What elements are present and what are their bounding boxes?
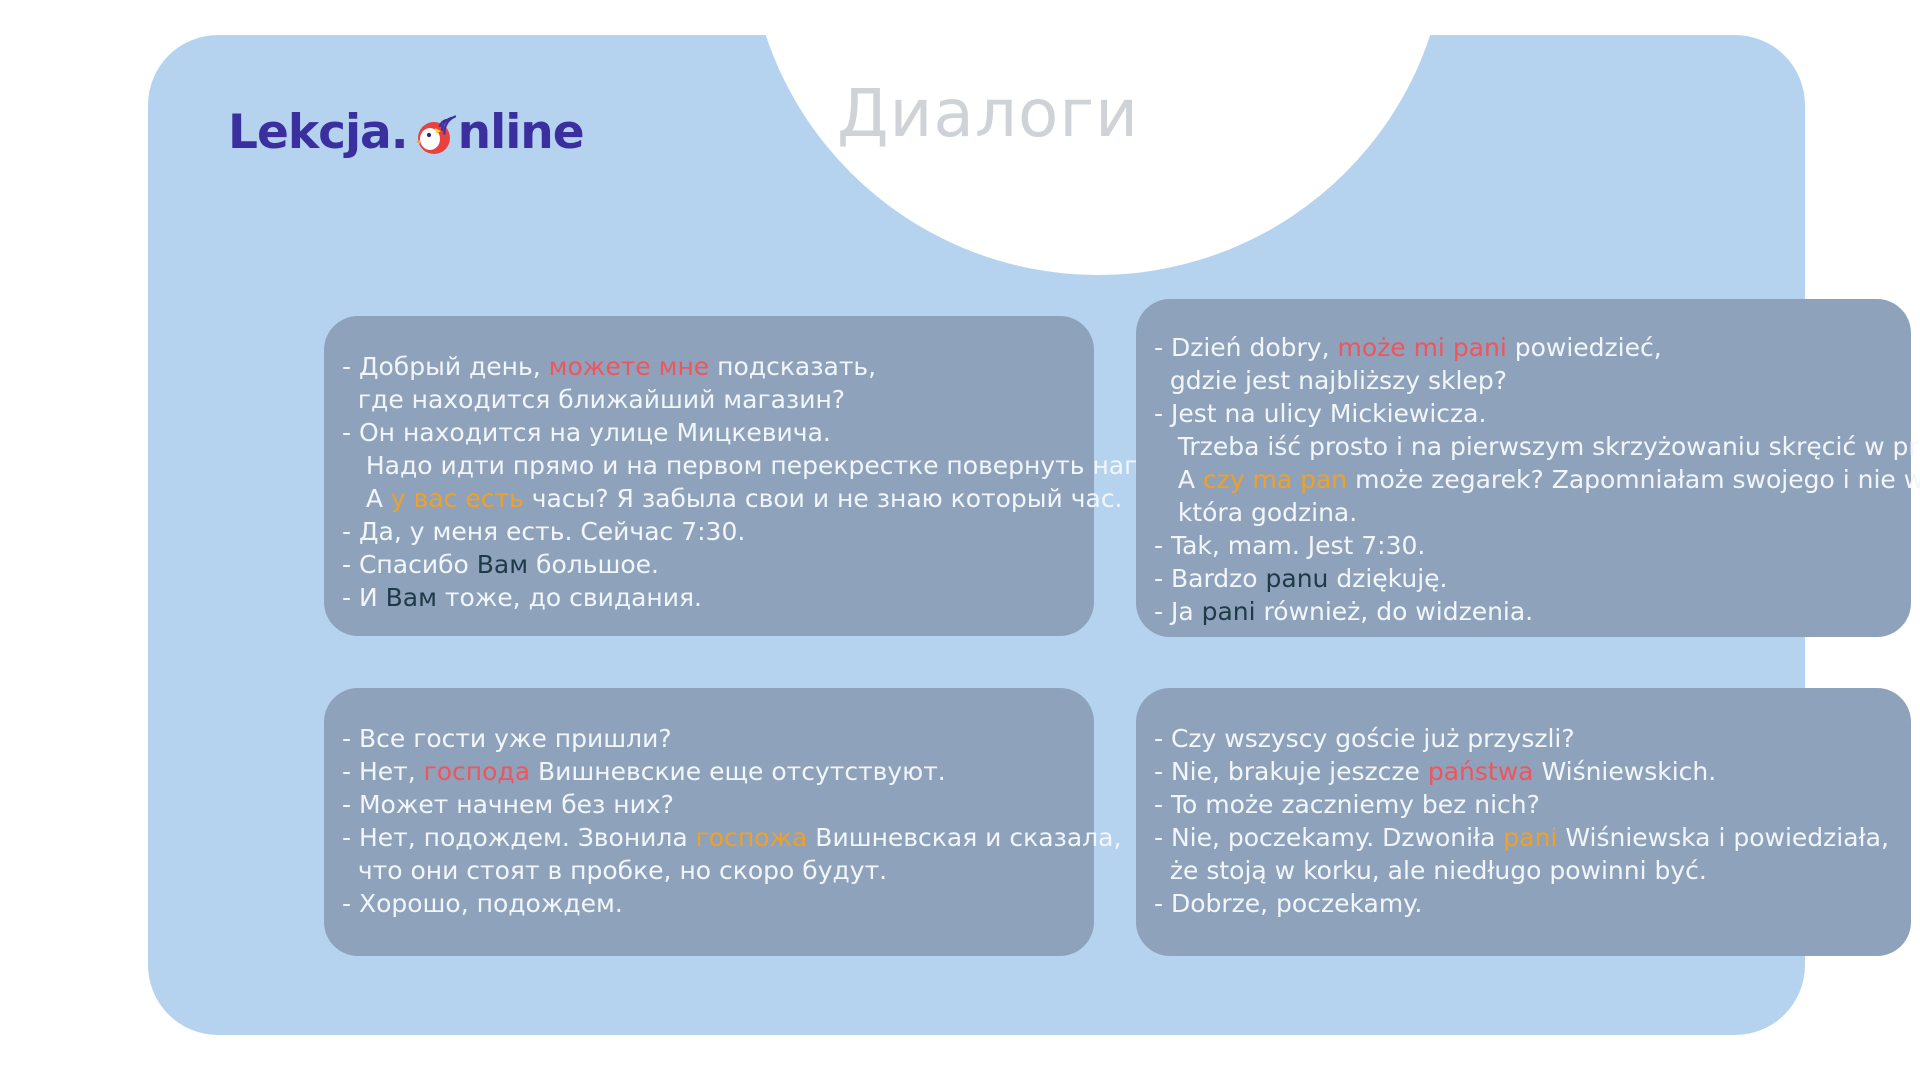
dialog-line: Надо идти прямо и на первом перекрестке … xyxy=(342,449,1094,482)
dialog-text-pl-1: - Dzień dobry, może mi pani powiedzieć, … xyxy=(1136,299,1911,628)
dialog-text-run: большое. xyxy=(528,550,659,579)
dialog-text-run: - Dobrze, poczekamy. xyxy=(1154,889,1422,918)
dialog-text-run: może zegarek? Zapomniałam swojego i nie … xyxy=(1347,465,1920,494)
dialog-text-run: - Jest na ulicy Mickiewicza. xyxy=(1154,399,1486,428)
dialog-line: gdzie jest najbliższy sklep? xyxy=(1154,364,1911,397)
slide-header: Lekcja.nline Диалоги xyxy=(148,35,1805,235)
dialog-line: - Нет, подождем. Звонила госпожа Вишневс… xyxy=(342,821,1094,854)
highlighted-phrase: pani xyxy=(1202,597,1256,626)
dialog-line: - Да, у меня есть. Сейчас 7:30. xyxy=(342,515,1094,548)
content-panel: Lekcja.nline Диалоги - Добрый день, може… xyxy=(148,35,1805,1035)
dialog-text-run: подсказать, xyxy=(709,352,876,381)
dialog-line: - To może zaczniemy bez nich? xyxy=(1154,788,1911,821)
dialog-text-run: - To może zaczniemy bez nich? xyxy=(1154,790,1540,819)
chick-wifi-icon xyxy=(409,108,457,156)
dialog-line: - Dobrze, poczekamy. xyxy=(1154,887,1911,920)
dialog-text-ru-1: - Добрый день, можете мне подсказать, гд… xyxy=(324,316,1094,614)
dialog-line: Trzeba iść prosto i na pierwszym skrzyżo… xyxy=(1154,430,1911,463)
dialog-text-run: - Все гости уже пришли? xyxy=(342,724,672,753)
highlighted-phrase: może mi pani xyxy=(1337,333,1506,362)
dialog-text-run: powiedzieć, xyxy=(1507,333,1662,362)
dialog-text-run: - Bardzo xyxy=(1154,564,1266,593)
dialog-text-run: - Czy wszyscy goście już przyszli? xyxy=(1154,724,1575,753)
dialog-text-run: - Nie, brakuje jeszcze xyxy=(1154,757,1428,786)
dialog-line: - Bardzo panu dziękuję. xyxy=(1154,562,1911,595)
dialog-line: - Может начнем без них? xyxy=(342,788,1094,821)
dialog-line: - Dzień dobry, może mi pani powiedzieć, xyxy=(1154,331,1911,364)
dialog-text-run: что они стоят в пробке, но скоро будут. xyxy=(342,856,887,885)
dialog-text-run: тоже, до свидания. xyxy=(437,583,702,612)
dialog-line: że stoją w korku, ale niedługo powinni b… xyxy=(1154,854,1911,887)
dialog-text-run: - Хорошо, подождем. xyxy=(342,889,623,918)
dialog-card-ru-1: - Добрый день, можете мне подсказать, гд… xyxy=(324,316,1094,636)
dialog-text-run: Wiśniewska i powiedziała, xyxy=(1557,823,1889,852)
logo-text-after: nline xyxy=(458,109,584,156)
dialog-text-run: часы? Я забыла свои и не знаю который ча… xyxy=(524,484,1123,513)
dialog-text-run: - Да, у меня есть. Сейчас 7:30. xyxy=(342,517,745,546)
dialog-text-run: A xyxy=(1154,465,1203,494)
dialog-text-run: - Нет, подождем. Звонила xyxy=(342,823,696,852)
dialog-line: А у вас есть часы? Я забыла свои и не зн… xyxy=(342,482,1094,515)
dialog-text-run: która godzina. xyxy=(1154,498,1357,527)
dialog-text-run: - Может начнем без них? xyxy=(342,790,674,819)
highlighted-phrase: czy ma pan xyxy=(1203,465,1347,494)
highlighted-phrase: panu xyxy=(1266,564,1329,593)
dialog-line: - Czy wszyscy goście już przyszli? xyxy=(1154,722,1911,755)
dialog-text-run: Trzeba iść prosto i na pierwszym skrzyżo… xyxy=(1154,432,1920,461)
dialog-line: - Нет, господа Вишневские еще отсутствую… xyxy=(342,755,1094,788)
dialog-text-run: gdzie jest najbliższy sklep? xyxy=(1154,366,1507,395)
dialog-line: где находится ближайший магазин? xyxy=(342,383,1094,416)
dialog-text-run: - Nie, poczekamy. Dzwoniła xyxy=(1154,823,1503,852)
dialog-line: - Jest na ulicy Mickiewicza. xyxy=(1154,397,1911,430)
logo-text-before: Lekcja. xyxy=(228,109,408,156)
dialog-text-ru-2: - Все гости уже пришли?- Нет, господа Ви… xyxy=(324,688,1094,920)
dialog-text-run: Надо идти прямо и на первом перекрестке … xyxy=(342,451,1210,480)
highlighted-phrase: pani xyxy=(1503,823,1557,852)
dialog-text-run: - Нет, xyxy=(342,757,424,786)
page-title: Диалоги xyxy=(678,75,1298,152)
dialog-line: która godzina. xyxy=(1154,496,1911,529)
dialog-line: - Nie, brakuje jeszcze państwa Wiśniewsk… xyxy=(1154,755,1911,788)
dialog-line: - Хорошо, подождем. xyxy=(342,887,1094,920)
highlighted-phrase: можете мне xyxy=(549,352,710,381)
dialog-text-run: - Он находится на улице Мицкевича. xyxy=(342,418,831,447)
dialog-card-pl-2: - Czy wszyscy goście już przyszli?- Nie,… xyxy=(1136,688,1911,956)
dialog-text-run: - Tak, mam. Jest 7:30. xyxy=(1154,531,1425,560)
highlighted-phrase: Вам xyxy=(477,550,528,579)
dialog-line: что они стоят в пробке, но скоро будут. xyxy=(342,854,1094,887)
brand-logo[interactable]: Lekcja.nline xyxy=(228,97,584,167)
highlighted-phrase: państwa xyxy=(1428,757,1534,786)
highlighted-phrase: Вам xyxy=(386,583,437,612)
dialog-text-run: również, do widzenia. xyxy=(1256,597,1534,626)
dialog-text-run: где находится ближайший магазин? xyxy=(342,385,845,414)
highlighted-phrase: господа xyxy=(424,757,530,786)
slide-root: Lekcja.nline Диалоги - Добрый день, може… xyxy=(0,0,1920,1080)
dialog-card-pl-1: - Dzień dobry, może mi pani powiedzieć, … xyxy=(1136,299,1911,637)
dialog-card-ru-2: - Все гости уже пришли?- Нет, господа Ви… xyxy=(324,688,1094,956)
highlighted-phrase: госпожа xyxy=(696,823,808,852)
dialog-text-run: dziękuję. xyxy=(1328,564,1447,593)
highlighted-phrase: у вас есть xyxy=(391,484,524,513)
dialog-line: - Добрый день, можете мне подсказать, xyxy=(342,350,1094,383)
dialog-text-run: - Добрый день, xyxy=(342,352,549,381)
dialog-text-run: - Ja xyxy=(1154,597,1202,626)
dialog-line: - Он находится на улице Мицкевича. xyxy=(342,416,1094,449)
dialog-line: - Все гости уже пришли? xyxy=(342,722,1094,755)
dialog-line: - Спасибо Вам большое. xyxy=(342,548,1094,581)
dialog-line: - И Вам тоже, до свидания. xyxy=(342,581,1094,614)
dialog-line: - Nie, poczekamy. Dzwoniła pani Wiśniews… xyxy=(1154,821,1911,854)
dialog-text-run: А xyxy=(342,484,391,513)
dialog-text-run: - И xyxy=(342,583,386,612)
dialog-text-run: Вишневская и сказала, xyxy=(807,823,1121,852)
dialog-text-run: - Dzień dobry, xyxy=(1154,333,1337,362)
dialog-text-run: Wiśniewskich. xyxy=(1534,757,1717,786)
dialog-text-run: że stoją w korku, ale niedługo powinni b… xyxy=(1154,856,1707,885)
dialog-text-run: Вишневские еще отсутствуют. xyxy=(530,757,946,786)
dialog-text-pl-2: - Czy wszyscy goście już przyszli?- Nie,… xyxy=(1136,688,1911,920)
dialog-line: - Tak, mam. Jest 7:30. xyxy=(1154,529,1911,562)
dialog-text-run: - Спасибо xyxy=(342,550,477,579)
dialog-line: A czy ma pan może zegarek? Zapomniałam s… xyxy=(1154,463,1911,496)
dialog-line: - Ja pani również, do widzenia. xyxy=(1154,595,1911,628)
